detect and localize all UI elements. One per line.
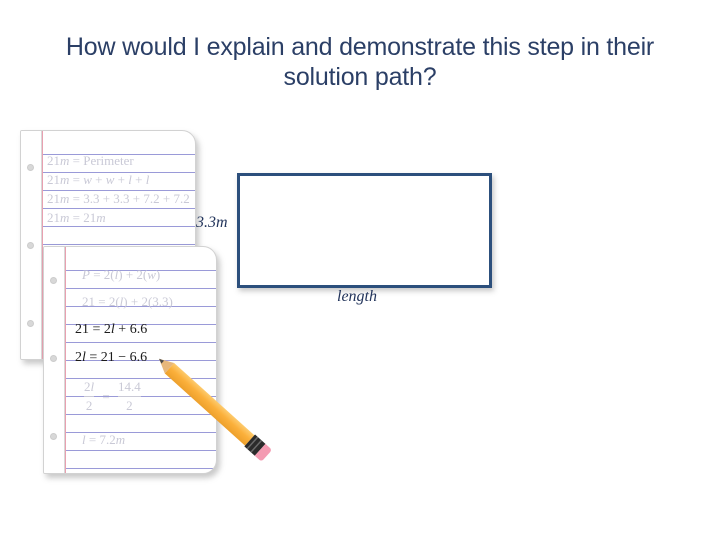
hole-punch-icon xyxy=(50,355,57,362)
margin-rule-line xyxy=(65,247,66,473)
rectangle-shape xyxy=(237,173,492,288)
hole-punch-icon xyxy=(27,242,34,249)
equation-line-highlighted: 21 = 2l + 6.6 xyxy=(75,323,147,337)
fraction-right-denominator: 2 xyxy=(118,398,141,414)
hole-punch-icon xyxy=(50,277,57,284)
fraction-right-numerator: 14.4 xyxy=(118,379,141,395)
equation-line: 21m = w + w + l + l xyxy=(47,173,149,187)
equation-line: P = 2(l) + 2(w) xyxy=(82,268,160,282)
hole-punch-icon xyxy=(50,433,57,440)
fraction-left-numerator: 2l xyxy=(84,379,94,395)
fraction-bar xyxy=(118,396,141,397)
notepad-solve-length: P = 2(l) + 2(w) 21 = 2(l) + 2(3.3) 21 = … xyxy=(43,246,217,474)
fraction-bar xyxy=(84,396,94,397)
fraction-equals: = xyxy=(97,389,114,405)
equation-fraction: 2l 2 = 14.4 2 xyxy=(84,379,141,414)
equation-line: 21m = 3.3 + 3.3 + 7.2 + 7.2 xyxy=(47,192,190,206)
width-dimension-label: 3.3m xyxy=(196,214,228,232)
equation-line: 21m = Perimeter xyxy=(47,154,134,168)
hole-punch-icon xyxy=(27,320,34,327)
hole-punch-icon xyxy=(27,164,34,171)
equation-line: 21m = 21m xyxy=(47,211,106,225)
fraction-left-denominator: 2 xyxy=(84,398,94,414)
slide-canvas: How would I explain and demonstrate this… xyxy=(0,0,720,540)
fraction-right: 14.4 2 xyxy=(118,379,141,414)
equation-line-highlighted: 2l = 21 − 6.6 xyxy=(75,351,147,365)
length-dimension-label: length xyxy=(337,288,377,306)
equation-line: 21 = 2(l) + 2(3.3) xyxy=(82,295,173,309)
page-title: How would I explain and demonstrate this… xyxy=(36,32,684,92)
equation-final-line: l = 7.2m xyxy=(82,433,125,447)
fraction-left: 2l 2 xyxy=(84,379,94,414)
